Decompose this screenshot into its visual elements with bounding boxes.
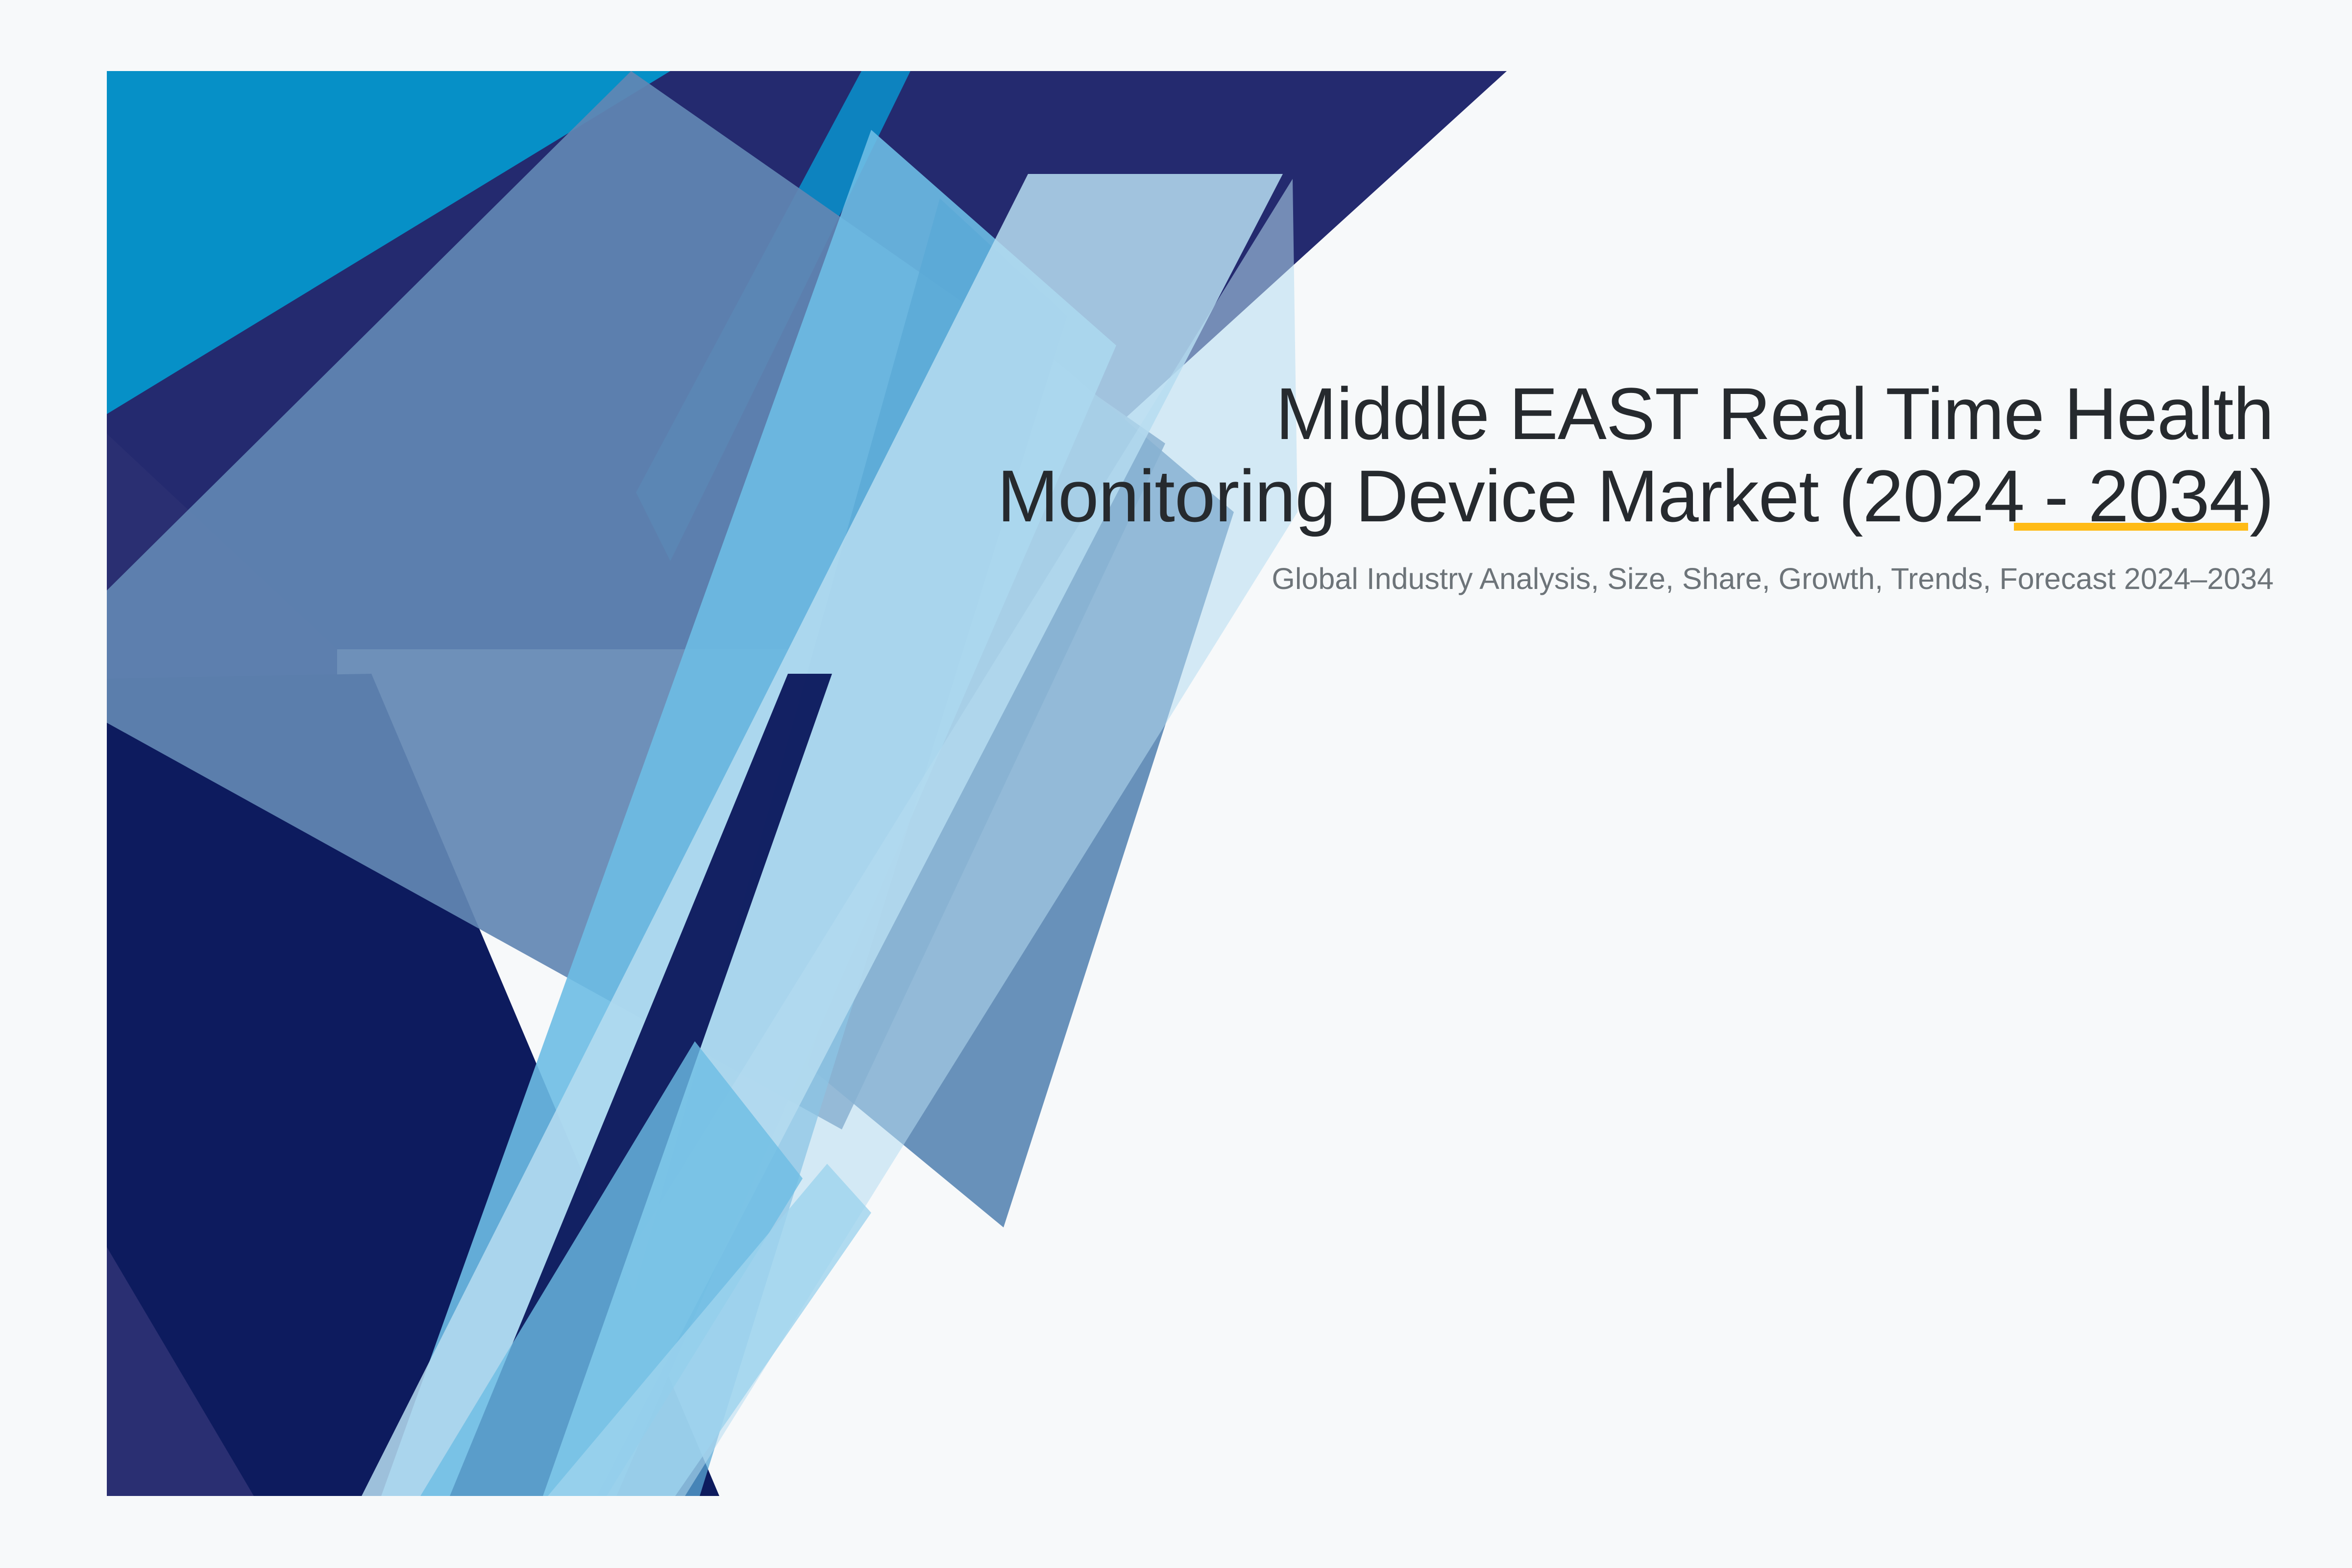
page-title: Middle EAST Real Time Health Monitoring … bbox=[955, 372, 2274, 537]
page-subtitle: Global Industry Analysis, Size, Share, G… bbox=[955, 537, 2274, 598]
title-block: Middle EAST Real Time Health Monitoring … bbox=[955, 372, 2274, 598]
abstract-polygon-artwork bbox=[107, 71, 1507, 1496]
cover-page: Middle EAST Real Time Health Monitoring … bbox=[0, 0, 2352, 1568]
polygon-artwork-svg bbox=[107, 71, 1507, 1496]
